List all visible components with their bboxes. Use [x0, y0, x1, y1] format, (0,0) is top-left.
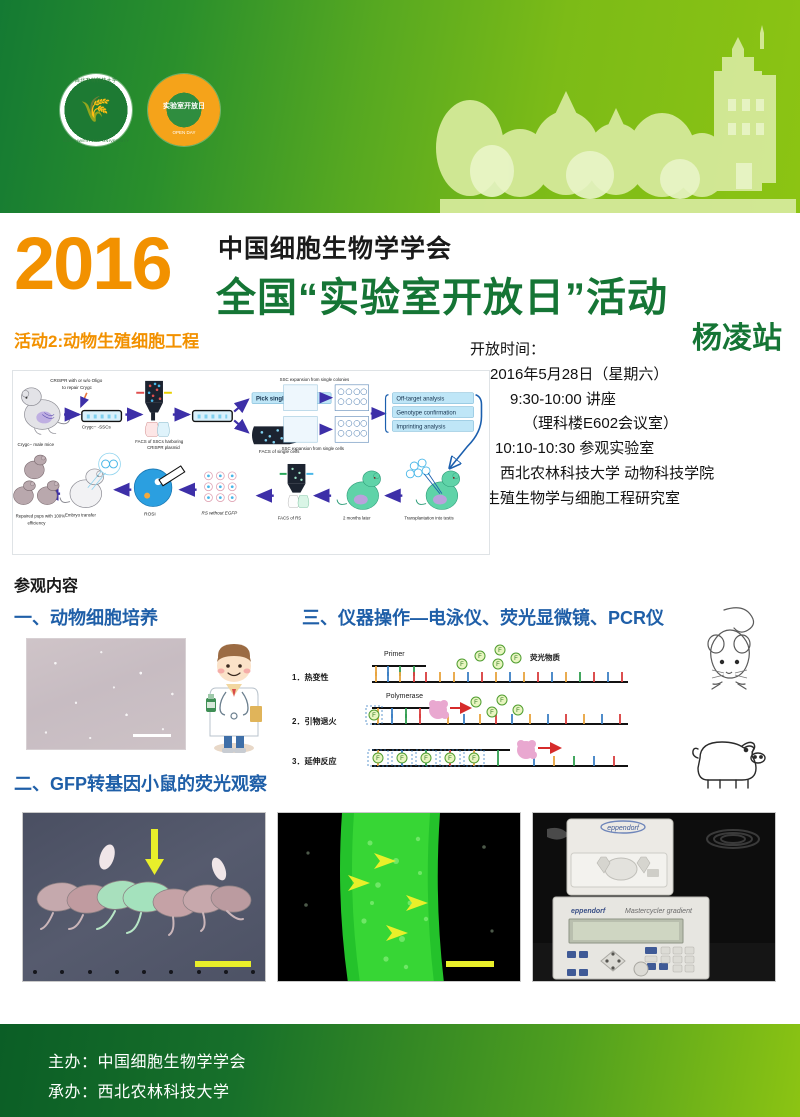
svg-text:F: F	[424, 756, 428, 762]
label-genotype: Genotype confirmation	[396, 411, 456, 417]
scale-bar	[133, 734, 171, 737]
svg-text:F: F	[448, 756, 452, 762]
label-male-mice: Crygc− male mice	[18, 442, 55, 447]
label-two-months: 2 months later	[343, 515, 371, 520]
poster-header-banner: 西北农林科技大学 🌾 NORTHWEST A&F UNIVERSITY 实验室开…	[0, 0, 800, 213]
mouse-icon	[22, 388, 70, 434]
footer-organizer: 承办：西北农林科技大学	[48, 1078, 230, 1102]
lab-open-day-logo: 实验室开放日 OPEN DAY	[148, 74, 220, 146]
label-ssc-exp-colonies: SSC expansion from single colonies	[280, 377, 350, 382]
label-facs-ssc-2: CRISPR plasmid	[147, 445, 180, 450]
page-title: 全国“实验室开放日”活动	[216, 265, 668, 323]
organizer-college: 西北农林科技大学 动物科技学院	[500, 462, 793, 487]
cell-culture-micrograph	[26, 638, 186, 750]
pcr-brand-label: eppendorf	[571, 908, 606, 915]
label-rs-no-egfp: RS without EGFP	[202, 510, 238, 515]
svg-text:F: F	[490, 710, 494, 716]
svg-text:F: F	[460, 662, 464, 668]
scale-bar	[446, 961, 494, 967]
label-repair: to repair Crygc	[62, 385, 93, 390]
label-rosi: ROSI	[144, 511, 156, 517]
label-facs-rs: FACS of RS	[278, 515, 302, 520]
open-day-logo-text-cn: 实验室开放日	[163, 101, 205, 111]
fluorophore-group-2: FFFF	[471, 695, 523, 717]
mouse-line-drawing	[680, 600, 780, 690]
logo-ring-text-en: NORTHWEST A&F UNIVERSITY	[60, 138, 132, 143]
footer-host: 主办：中国细胞生物学学会	[48, 1048, 246, 1072]
schedule-info: 开放时间： 2016年5月28日（星期六） 9:30-10:00 讲座 （理科楼…	[455, 338, 793, 511]
activity-subtitle: 活动2:动物生殖细胞工程	[14, 327, 199, 352]
cartoon-scientist-illustration	[196, 636, 272, 756]
label-repaired-pups-2: efficiency	[27, 520, 46, 525]
label-embryo-transfer: Embryo transfer	[65, 512, 96, 517]
culture-dish-icon	[82, 411, 122, 422]
label-sscs: Crygc− -SSCs	[82, 424, 112, 429]
society-name: 中国细胞生物学学会	[218, 229, 452, 265]
gfp-transgenic-pups-photo	[22, 812, 266, 982]
scale-bar	[195, 961, 251, 967]
pcr-primer-label: Primer	[384, 651, 405, 658]
label-facs-ssc-1: FACS of SSCs harboring	[135, 439, 184, 444]
embryo-transfer-mouse-icon	[60, 453, 120, 507]
pcr-polymerase-label: Polymerase	[386, 693, 423, 700]
schedule-date: 2016年5月28日（星期六）	[490, 363, 793, 388]
label-crispr-oligo: CRISPR with or w/o Oligo	[50, 378, 103, 383]
gfp-seminiferous-tubule-fluorescence-photo	[277, 812, 521, 982]
svg-text:F: F	[500, 698, 504, 704]
rosi-oocyte-icon	[134, 466, 184, 507]
schedule-slot-lecture: 9:30-10:00 讲座	[510, 388, 793, 413]
campus-silhouette-icon	[380, 13, 800, 213]
facs-rs-icon	[280, 464, 314, 508]
crispr-ssc-workflow-diagram: Crygc− male mice CRISPR with or w/o Olig…	[12, 370, 490, 555]
content-section-heading: 参观内容	[14, 572, 78, 596]
poster-footer: 主办：中国细胞生物学学会 承办：西北农林科技大学	[0, 1024, 800, 1117]
svg-text:F: F	[472, 756, 476, 762]
svg-text:F: F	[498, 648, 502, 654]
svg-text:F: F	[496, 662, 500, 668]
label-transplant: Transplantation into testis	[404, 515, 454, 520]
organizer-lab: 生殖生物学与细胞工程研究室	[485, 487, 793, 512]
pcr-principle-diagram: 1．热变性 Primer 荧光物质 FFF	[290, 644, 630, 774]
svg-text:F: F	[376, 756, 380, 762]
northwest-aaf-university-logo: 西北农林科技大学 🌾 NORTHWEST A&F UNIVERSITY	[60, 74, 132, 146]
svg-text:F: F	[400, 756, 404, 762]
schedule-label: 开放时间：	[470, 338, 793, 363]
analysis-box-group: Off-target analysis Genotype confirmatio…	[392, 393, 473, 432]
schedule-venue: （理科楼E602会议室）	[523, 412, 793, 437]
pcr-fluorophore-label: 荧光物质	[530, 652, 560, 662]
section-3-heading: 三、仪器操作—电泳仪、荧光显微镜、PCR仪	[302, 604, 664, 630]
fluorophore-group-1: FFF FF	[457, 645, 521, 669]
pcr-step-2-label: 2．引物退火	[292, 716, 337, 726]
logo-ring-text-cn: 西北农林科技大学	[60, 77, 132, 84]
photo-gallery-row: eppendorf eppendorf Mastercycler gradien…	[22, 812, 778, 982]
schedule-slot-lab-visit: 10:10-10:30 参观实验室	[495, 437, 793, 462]
section-1-heading: 一、动物细胞培养	[14, 604, 158, 630]
label-imprinting: Imprinting analysis	[396, 424, 445, 430]
facs-sorter-icon	[136, 381, 172, 436]
polymerase-icon-2	[517, 740, 537, 759]
label-repaired-pups-1: Repaired pups with 100%	[16, 513, 66, 518]
culture-dish-2-icon	[193, 411, 233, 422]
polymerase-icon	[429, 700, 449, 719]
wheat-emblem-icon: 🌾	[80, 98, 111, 123]
year-heading: 2016	[14, 227, 171, 301]
yellow-arrow-marker	[145, 829, 164, 875]
svg-text:F: F	[474, 700, 478, 706]
svg-text:F: F	[514, 656, 518, 662]
pcr-model-label: Mastercycler gradient	[625, 908, 693, 915]
label-off-target: Off-target analysis	[396, 397, 444, 403]
section-2-heading: 二、GFP转基因小鼠的荧光观察	[14, 770, 267, 796]
repaired-pups-icon	[14, 455, 60, 504]
pig-line-drawing	[682, 728, 782, 790]
svg-text:F: F	[516, 708, 520, 714]
pcr-step-1-label: 1．热变性	[292, 672, 328, 682]
label-ssc-exp-cells: SSC expansion from single cells	[282, 446, 345, 451]
pcr-brand-lid: eppendorf	[607, 825, 640, 832]
eppendorf-mastercycler-pcr-machine-photo: eppendorf eppendorf Mastercycler gradien…	[532, 812, 776, 982]
logo-group: 西北农林科技大学 🌾 NORTHWEST A&F UNIVERSITY 实验室开…	[60, 74, 220, 146]
svg-text:F: F	[478, 654, 482, 660]
pcr-step-3-label: 3．延伸反应	[292, 756, 336, 766]
ruler-dots	[33, 970, 255, 974]
two-months-mouse-icon	[337, 471, 381, 510]
svg-text:F: F	[372, 713, 376, 719]
open-day-logo-text-en: OPEN DAY	[173, 130, 196, 135]
